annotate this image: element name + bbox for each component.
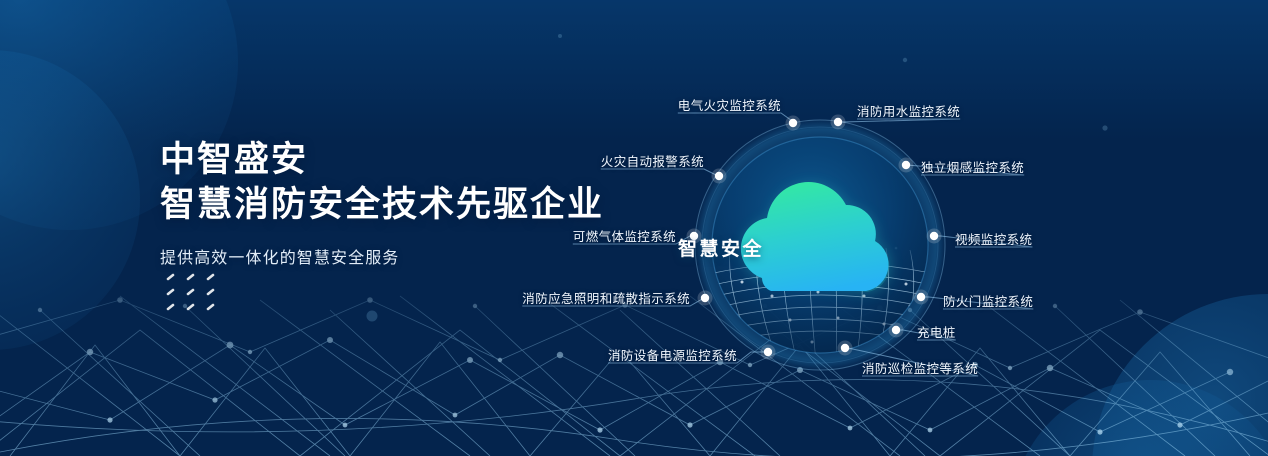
diagram-label-combustible-gas[interactable]: 可燃气体监控系统 (573, 226, 676, 245)
brand-subtitle: 提供高效一体化的智慧安全服务 (160, 244, 604, 268)
dot-grid-ornament (166, 272, 226, 316)
hero-copy: 中智盛安 智慧消防安全技术先驱企业 提供高效一体化的智慧安全服务 (160, 140, 604, 268)
diagram-label-electrical-fire[interactable]: 电气火灾监控系统 (678, 95, 781, 114)
connector-node-combustible-gas[interactable] (690, 232, 698, 240)
diagram-label-patrol-monitor[interactable]: 消防巡检监控等系统 (862, 358, 978, 377)
diagram-label-fire-alarm[interactable]: 火灾自动报警系统 (601, 151, 704, 170)
connector-line-fire-alarm (601, 169, 719, 176)
diagram-label-smoke-detector[interactable]: 独立烟感监控系统 (921, 157, 1024, 176)
smart-security-cloud (705, 130, 935, 360)
brand-title-line1: 中智盛安 (160, 140, 604, 180)
connector-line-electrical-fire (678, 113, 795, 123)
connector-node-electrical-fire[interactable] (789, 119, 797, 127)
connector-node-water-monitor[interactable] (834, 118, 842, 126)
diagram-label-fire-door[interactable]: 防火门监控系统 (943, 291, 1033, 310)
diagram-label-emergency-light[interactable]: 消防应急照明和疏散指示系统 (522, 288, 690, 307)
diagram-label-water-monitor[interactable]: 消防用水监控系统 (857, 101, 960, 120)
brand-title-line2: 智慧消防安全技术先驱企业 (160, 185, 604, 225)
hero-banner: 中智盛安 智慧消防安全技术先驱企业 提供高效一体化的智慧安全服务 (0, 0, 1268, 456)
diagram-label-video-monitor[interactable]: 视频监控系统 (955, 229, 1032, 248)
